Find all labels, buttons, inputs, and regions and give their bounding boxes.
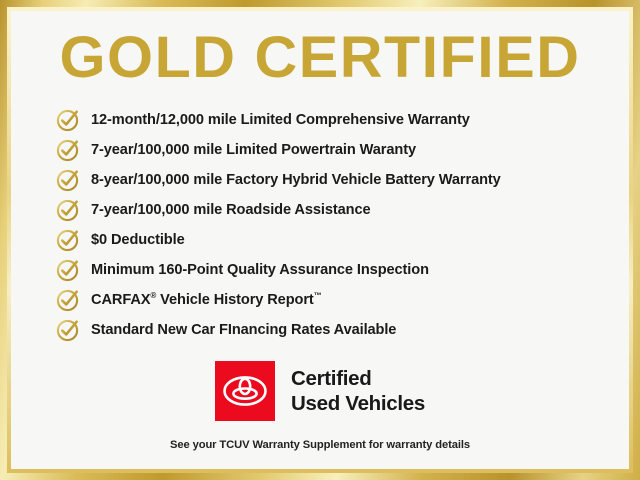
- toyota-emblem-icon: [215, 361, 275, 421]
- list-item: 12-month/12,000 mile Limited Comprehensi…: [55, 105, 611, 135]
- carfax-report-text: Vehicle History Report: [156, 292, 313, 308]
- gold-certified-badge: GOLD CERTIFIED 12-mont: [0, 0, 640, 480]
- check-circle-icon: [55, 257, 81, 283]
- check-circle-icon: [55, 227, 81, 253]
- list-item-label: Standard New Car FInancing Rates Availab…: [91, 322, 396, 338]
- logo-line-1: Certified: [291, 366, 425, 391]
- list-item-label: CARFAX® Vehicle History Report™: [91, 292, 322, 308]
- logo-line-2: Used Vehicles: [291, 391, 425, 416]
- list-item-label: Minimum 160-Point Quality Assurance Insp…: [91, 262, 429, 278]
- carfax-brand: CARFAX: [91, 292, 150, 308]
- check-circle-icon: [55, 197, 81, 223]
- trademark-mark: ™: [314, 291, 322, 300]
- list-item-label: $0 Deductible: [91, 232, 185, 248]
- check-circle-icon: [55, 167, 81, 193]
- list-item: $0 Deductible: [55, 225, 611, 255]
- list-item: 7-year/100,000 mile Roadside Assistance: [55, 195, 611, 225]
- toyota-certified-used-vehicles-logo: Certified Used Vehicles: [11, 361, 629, 421]
- benefits-list: 12-month/12,000 mile Limited Comprehensi…: [55, 105, 611, 345]
- check-circle-icon: [55, 137, 81, 163]
- check-circle-icon: [55, 107, 81, 133]
- list-item: 7-year/100,000 mile Limited Powertrain W…: [55, 135, 611, 165]
- badge-panel: GOLD CERTIFIED 12-mont: [11, 11, 629, 469]
- list-item-label: 7-year/100,000 mile Limited Powertrain W…: [91, 142, 416, 158]
- list-item: Minimum 160-Point Quality Assurance Insp…: [55, 255, 611, 285]
- logo-wordmark: Certified Used Vehicles: [291, 366, 425, 416]
- check-circle-icon: [55, 317, 81, 343]
- list-item: Standard New Car FInancing Rates Availab…: [55, 315, 611, 345]
- list-item: CARFAX® Vehicle History Report™: [55, 285, 611, 315]
- list-item-label: 12-month/12,000 mile Limited Comprehensi…: [91, 112, 470, 128]
- list-item-label: 7-year/100,000 mile Roadside Assistance: [91, 202, 371, 218]
- list-item: 8-year/100,000 mile Factory Hybrid Vehic…: [55, 165, 611, 195]
- warranty-disclaimer: See your TCUV Warranty Supplement for wa…: [11, 439, 629, 451]
- page-title: GOLD CERTIFIED: [11, 27, 629, 89]
- check-circle-icon: [55, 287, 81, 313]
- list-item-label: 8-year/100,000 mile Factory Hybrid Vehic…: [91, 172, 501, 188]
